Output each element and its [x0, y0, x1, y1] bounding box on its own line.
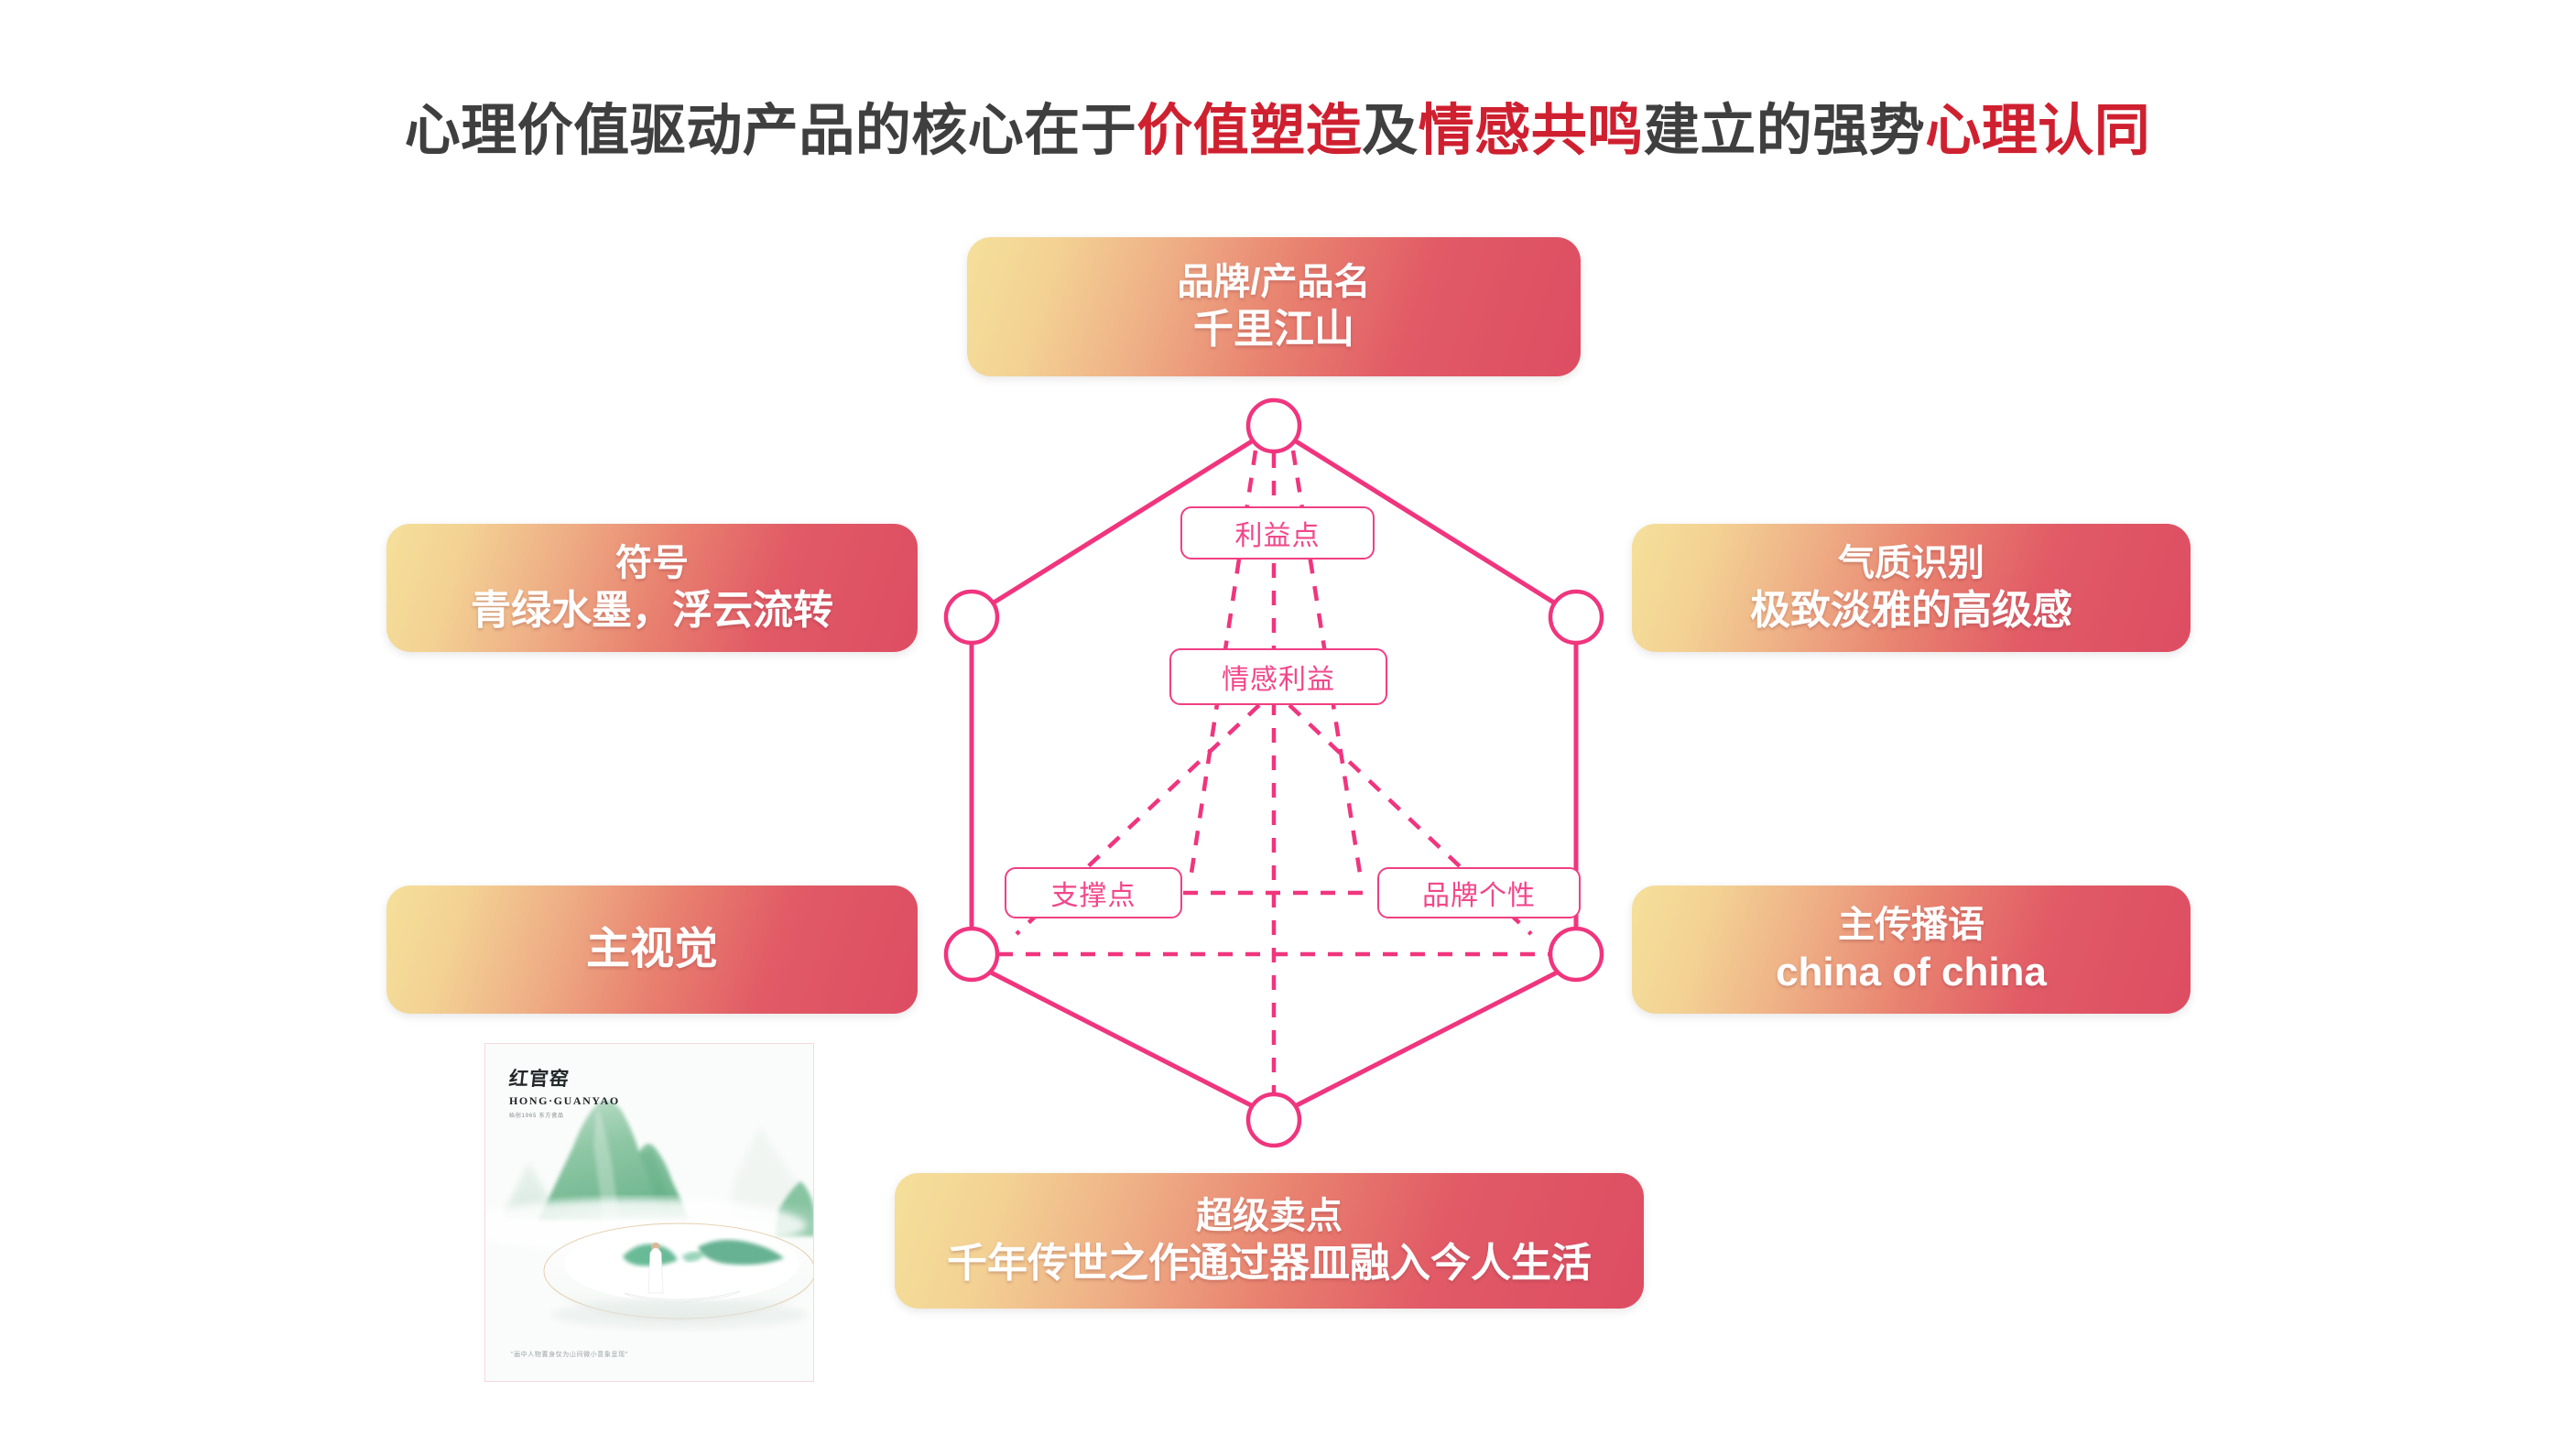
node-lower-left	[946, 929, 997, 980]
photo-caption: "画中人物置身仅为山间微小意象呈现"	[511, 1350, 628, 1359]
hexagon-svg	[916, 385, 1648, 1154]
card-temperament[interactable]: 气质识别 极致淡雅的高级感	[1632, 524, 2191, 652]
node-upper-left	[946, 592, 997, 643]
node-bottom	[1248, 1094, 1299, 1146]
card-symbol[interactable]: 符号 青绿水墨，浮云流转	[386, 524, 918, 652]
title-highlight-1: 价值塑造	[1136, 99, 1362, 161]
title-segment-3: 建立的强势	[1644, 99, 1926, 161]
card-brand-product-name[interactable]: 品牌/产品名 千里江山	[967, 237, 1581, 376]
card-symbol-value: 青绿水墨，浮云流转	[471, 586, 833, 636]
card-selling-heading: 超级卖点	[1196, 1194, 1343, 1239]
card-temperament-value: 极致淡雅的高级感	[1750, 586, 2072, 636]
label-benefit-point[interactable]: 利益点	[1180, 506, 1375, 560]
card-key-visual[interactable]: 主视觉	[386, 886, 918, 1014]
photo-brand-sub: 始创1965 东方瓷品	[509, 1111, 620, 1119]
photo-brand-mark: 红官窑	[507, 1064, 621, 1092]
brand-hexagon-diagram: 利益点 情感利益 支撑点 品牌个性	[916, 385, 1648, 1154]
card-main-slogan-heading: 主传播语	[1838, 903, 1984, 948]
title-highlight-3: 心理认同	[1925, 99, 2150, 161]
card-main-slogan-value: china of china	[1776, 948, 2047, 997]
title-highlight-2: 情感共鸣	[1419, 99, 1644, 161]
edge-lowerright-bottom	[1293, 972, 1557, 1107]
title-segment-1: 心理价值驱动产品的核心在于	[405, 99, 1137, 161]
node-lower-right	[1550, 929, 1602, 980]
card-symbol-heading: 符号	[615, 541, 689, 586]
photo-brand-logo: 红官窑 HONG·GUANYAO 始创1965 东方瓷品	[509, 1064, 620, 1119]
card-key-visual-heading: 主视觉	[586, 923, 718, 977]
node-upper-right	[1550, 592, 1602, 643]
label-emotional-benefit[interactable]: 情感利益	[1169, 648, 1387, 705]
key-visual-product-photo: 红官窑 HONG·GUANYAO 始创1965 东方瓷品 "画中人物置身仅为山间…	[484, 1043, 814, 1382]
card-super-selling-point[interactable]: 超级卖点 千年传世之作通过器皿融入今人生活	[895, 1173, 1644, 1309]
photo-brand-latin: HONG·GUANYAO	[509, 1094, 620, 1108]
card-brand-heading: 品牌/产品名	[1177, 260, 1370, 305]
edge-lowerleft-bottom	[991, 972, 1255, 1107]
page-title: 心理价值驱动产品的核心在于价值塑造及情感共鸣建立的强势心理认同	[0, 84, 2555, 166]
card-brand-value: 千里江山	[1193, 305, 1354, 354]
label-support-point[interactable]: 支撑点	[1005, 867, 1182, 918]
title-segment-2: 及	[1362, 99, 1419, 161]
card-main-slogan[interactable]: 主传播语 china of china	[1632, 886, 2191, 1014]
node-top	[1248, 400, 1299, 451]
card-selling-value: 千年传世之作通过器皿融入今人生活	[947, 1239, 1592, 1288]
card-temperament-heading: 气质识别	[1838, 541, 1984, 586]
label-brand-personality[interactable]: 品牌个性	[1377, 867, 1581, 918]
